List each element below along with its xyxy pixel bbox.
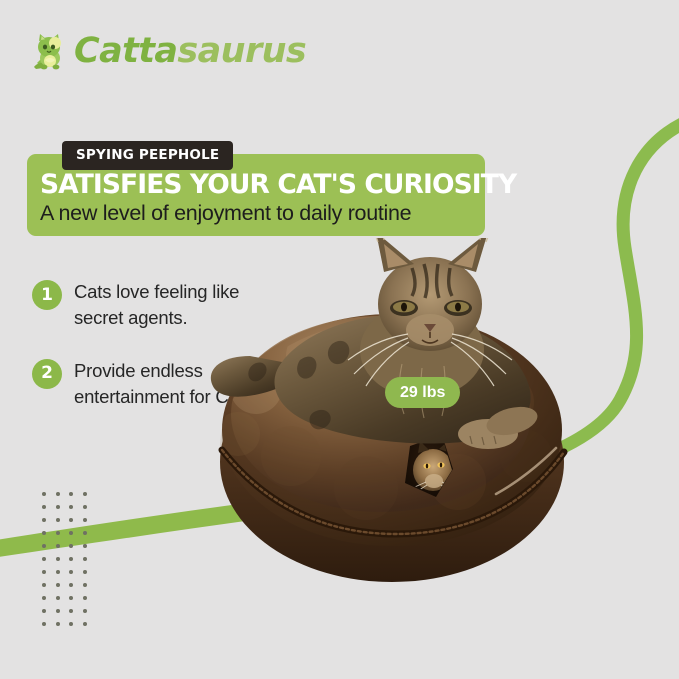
grid-dot <box>42 609 46 613</box>
grid-dot <box>42 622 46 626</box>
grid-dot <box>69 531 73 535</box>
grid-dot <box>83 531 87 535</box>
grid-dot <box>42 531 46 535</box>
grid-dot <box>42 492 46 496</box>
dot-grid-decoration <box>42 492 96 635</box>
grid-dot <box>42 570 46 574</box>
grid-dot <box>69 518 73 522</box>
grid-dot <box>83 492 87 496</box>
grid-dot <box>83 622 87 626</box>
grid-dot <box>56 583 60 587</box>
grid-dot <box>56 622 60 626</box>
grid-dot <box>69 596 73 600</box>
grid-dot <box>83 570 87 574</box>
grid-dot <box>56 609 60 613</box>
grid-dot <box>56 570 60 574</box>
grid-dot <box>42 544 46 548</box>
subheadline-text: A new level of enjoyment to daily routin… <box>40 203 488 225</box>
grid-dot <box>69 570 73 574</box>
grid-dot <box>42 505 46 509</box>
grid-dot <box>83 583 87 587</box>
grid-dot <box>83 596 87 600</box>
grid-dot <box>69 609 73 613</box>
brand-logo: Cattasaurus <box>33 32 306 70</box>
grid-dot <box>56 492 60 496</box>
grid-dot <box>69 622 73 626</box>
grid-dot <box>83 518 87 522</box>
grid-dot <box>56 557 60 561</box>
grid-dot <box>42 557 46 561</box>
benefit-number-badge: 2 <box>32 359 62 389</box>
grid-dot <box>69 583 73 587</box>
weight-badge-label: 29 lbs <box>400 385 445 401</box>
benefit-number-badge: 1 <box>32 280 62 310</box>
brand-name-part-1: Catta <box>74 31 177 71</box>
headline-text: SATISFIES YOUR CAT'S CURIOSITY <box>40 172 488 199</box>
product-photo <box>196 238 679 600</box>
green-cat-dinosaur-mascot-icon <box>33 32 67 70</box>
grid-dot <box>69 492 73 496</box>
grid-dot <box>69 557 73 561</box>
brand-name-part-2: saurus <box>177 31 306 71</box>
grid-dot <box>69 505 73 509</box>
grid-dot <box>83 544 87 548</box>
grid-dot <box>42 596 46 600</box>
grid-dot <box>42 518 46 522</box>
weight-badge: 29 lbs <box>385 377 460 408</box>
grid-dot <box>56 505 60 509</box>
grid-dot <box>83 557 87 561</box>
grid-dot <box>56 596 60 600</box>
grid-dot <box>42 583 46 587</box>
grid-dot <box>56 544 60 548</box>
grid-dot <box>56 531 60 535</box>
infographic-page: Cattasaurus SPYING PEEPHOLE SATISFIES YO… <box>0 0 679 679</box>
grid-dot <box>83 609 87 613</box>
brand-name: Cattasaurus <box>74 34 306 69</box>
feature-badge-label: SPYING PEEPHOLE <box>76 149 219 163</box>
grid-dot <box>56 518 60 522</box>
grid-dot <box>83 505 87 509</box>
feature-badge: SPYING PEEPHOLE <box>62 141 233 170</box>
grid-dot <box>69 544 73 548</box>
